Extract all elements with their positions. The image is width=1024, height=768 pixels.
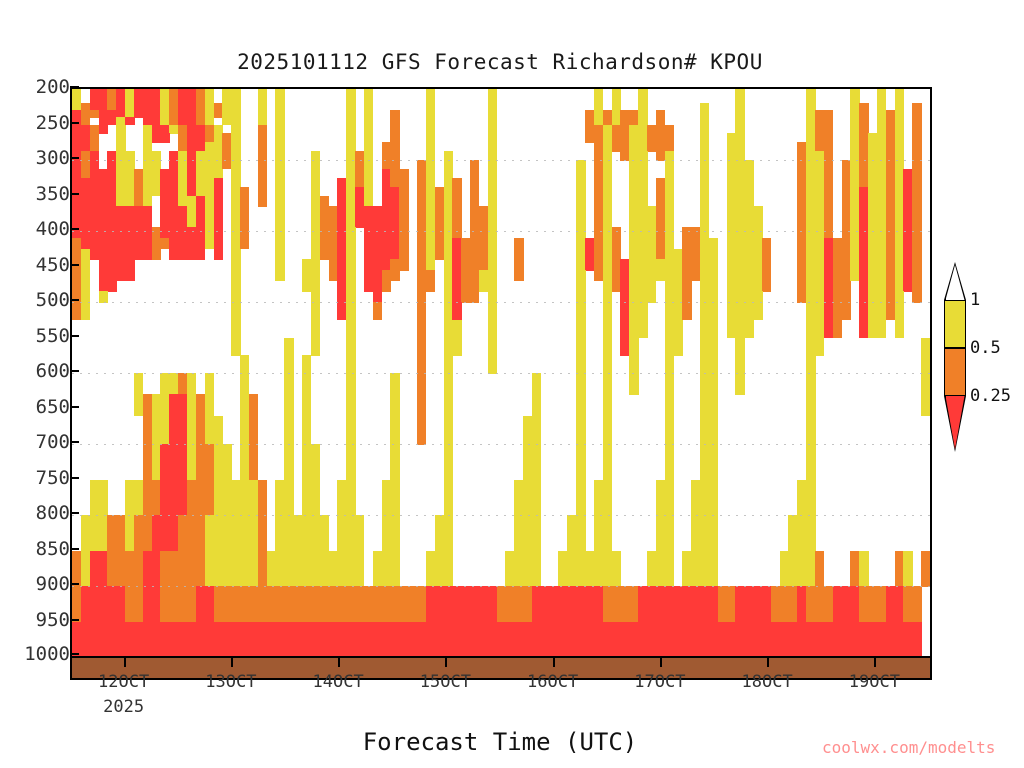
watermark: coolwx.com/modelts: [822, 738, 995, 757]
y-axis-tick-mark: [70, 335, 79, 337]
x-axis-tick-label: 19OCT: [849, 672, 900, 692]
colorbar-tick-label: 0.25: [970, 386, 1011, 406]
y-axis-tick-mark: [70, 441, 79, 443]
y-axis-tick-mark: [70, 548, 79, 550]
y-axis-tick-mark: [70, 86, 79, 88]
y-axis-tick-mark: [70, 583, 79, 585]
y-axis-tick-mark: [70, 406, 79, 408]
y-axis-tick-mark: [70, 157, 79, 159]
x-axis-tick-label: 13OCT: [205, 672, 256, 692]
x-axis-tick-mark: [767, 658, 769, 667]
y-axis-tick-mark: [70, 619, 79, 621]
x-axis-tick-mark: [553, 658, 555, 667]
colorbar-tick-label: 0.5: [970, 338, 1001, 358]
x-axis-tick-mark: [445, 658, 447, 667]
y-axis-tick-mark: [70, 653, 79, 655]
x-axis-tick-label: 18OCT: [742, 672, 793, 692]
x-axis-tick-label: 15OCT: [420, 672, 471, 692]
y-axis-tick-mark: [70, 228, 79, 230]
x-axis-tick-label: 12OCT: [98, 672, 149, 692]
colorbar-tick-label: 1: [970, 290, 980, 310]
x-axis-year-label: 2025: [103, 697, 144, 717]
y-axis-tick-mark: [70, 264, 79, 266]
x-axis-tick-mark: [660, 658, 662, 667]
y-axis-tick-mark: [70, 122, 79, 124]
y-axis-tick-mark: [70, 370, 79, 372]
x-axis-tick-label: 16OCT: [527, 672, 578, 692]
x-axis: 12OCT13OCT14OCT15OCT16OCT17OCT18OCT19OCT…: [0, 0, 1024, 768]
x-axis-tick-mark: [124, 658, 126, 667]
y-axis-tick-mark: [70, 193, 79, 195]
x-axis-tick-mark: [874, 658, 876, 667]
colorbar-band: [944, 300, 966, 348]
x-axis-tick-label: 14OCT: [313, 672, 364, 692]
y-axis-tick-mark: [70, 477, 79, 479]
x-axis-tick-mark: [231, 658, 233, 667]
colorbar-band: [944, 348, 966, 396]
x-axis-tick-label: 17OCT: [634, 672, 685, 692]
x-axis-tick-mark: [338, 658, 340, 667]
y-axis-tick-mark: [70, 512, 79, 514]
y-axis-tick-mark: [70, 299, 79, 301]
